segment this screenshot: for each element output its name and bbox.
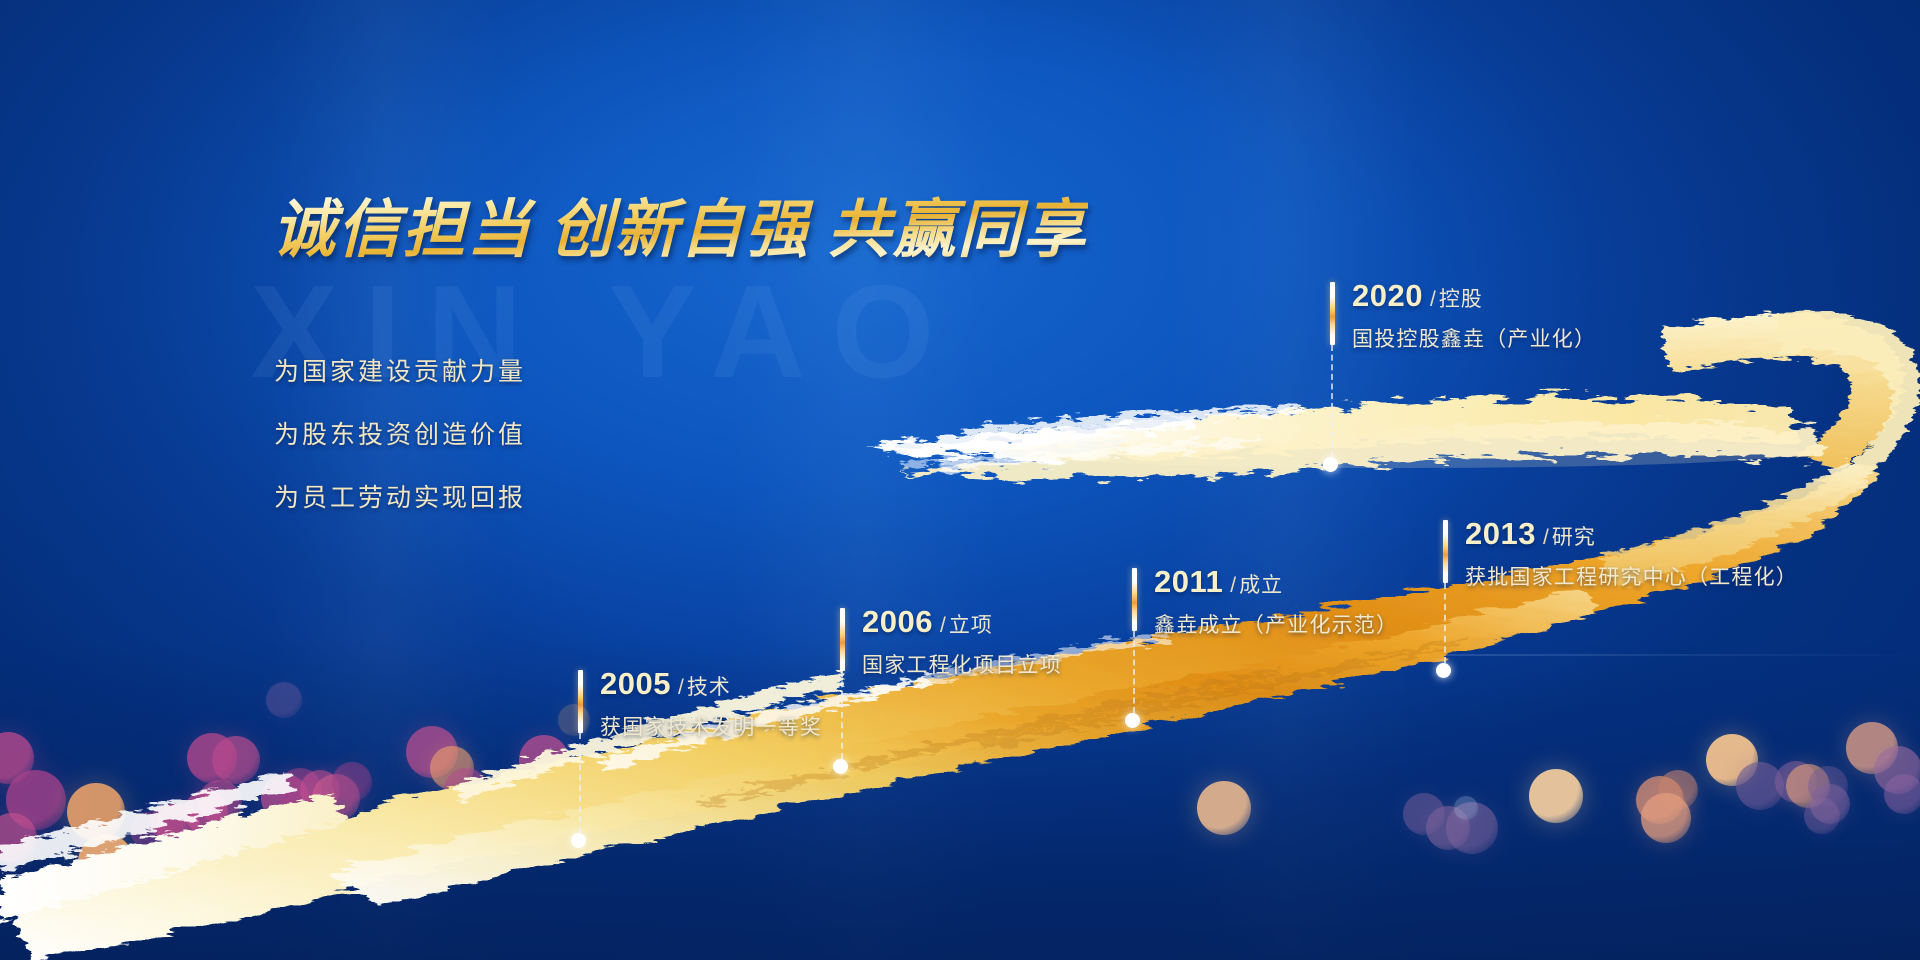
slogan-line-2: 为股东投资创造价值 [274, 415, 526, 451]
timeline-description: 国家工程化项目立项 [862, 649, 1062, 679]
poster-stage: XIN YAO [0, 0, 1920, 960]
timeline-separator: / [1230, 574, 1236, 597]
timeline-connector-line [579, 733, 581, 833]
timeline-connector-line [1444, 583, 1446, 663]
timeline-category: 成立 [1239, 574, 1283, 597]
timeline-connector-line [1331, 345, 1333, 457]
timeline-category: 研究 [1552, 526, 1596, 549]
timeline-year: 2011 [1154, 564, 1223, 599]
timeline-connector-line [841, 671, 843, 759]
timeline-description: 鑫垚成立（产业化示范） [1154, 609, 1398, 639]
page-title: 诚信担当 创新自强 共赢同享 [272, 196, 1088, 264]
timeline-year: 2006 [862, 604, 933, 639]
timeline-item-body: 2013/研究获批国家工程研究中心（工程化） [1465, 516, 1798, 591]
timeline-item-heading: 2013/研究 [1465, 516, 1798, 552]
timeline-item-heading: 2005/技术 [600, 666, 822, 702]
timeline-separator: / [1543, 526, 1549, 549]
timeline-category: 控股 [1439, 288, 1483, 311]
timeline-year: 2013 [1465, 516, 1536, 551]
timeline-connector-line [1133, 631, 1135, 713]
timeline-point-marker[interactable] [1125, 713, 1140, 728]
timeline-point-marker[interactable] [1436, 663, 1451, 678]
timeline-marker-bar [840, 608, 845, 671]
timeline-year: 2005 [600, 666, 671, 701]
timeline-item-heading: 2020/控股 [1352, 278, 1596, 314]
timeline-marker-bar [1443, 520, 1448, 583]
timeline-category: 立项 [949, 614, 993, 637]
timeline-marker-bar [1330, 282, 1335, 345]
timeline-point-marker[interactable] [1323, 457, 1338, 472]
timeline-item-body: 2020/控股国投控股鑫垚（产业化） [1352, 278, 1596, 353]
timeline-item-body: 2011/成立鑫垚成立（产业化示范） [1154, 564, 1398, 639]
slogan-line-1: 为国家建设贡献力量 [274, 352, 526, 388]
timeline-marker-bar [1132, 568, 1137, 631]
timeline-item-body: 2006/立项国家工程化项目立项 [862, 604, 1062, 679]
timeline-point-marker[interactable] [571, 833, 586, 848]
timeline-item-body: 2005/技术获国家技术发明一等奖 [600, 666, 822, 741]
timeline-description: 获批国家工程研究中心（工程化） [1465, 561, 1798, 591]
timeline-year: 2020 [1352, 278, 1423, 313]
timeline-separator: / [678, 676, 684, 699]
timeline-category: 技术 [687, 676, 731, 699]
timeline-description: 获国家技术发明一等奖 [600, 711, 822, 741]
timeline-point-marker[interactable] [833, 759, 848, 774]
slogan-line-3: 为员工劳动实现回报 [274, 478, 526, 514]
timeline-marker-bar [578, 670, 583, 733]
timeline-item-heading: 2011/成立 [1154, 564, 1398, 600]
timeline-item-heading: 2006/立项 [862, 604, 1062, 640]
timeline-separator: / [940, 614, 946, 637]
timeline-separator: / [1430, 288, 1436, 311]
timeline-description: 国投控股鑫垚（产业化） [1352, 323, 1596, 353]
